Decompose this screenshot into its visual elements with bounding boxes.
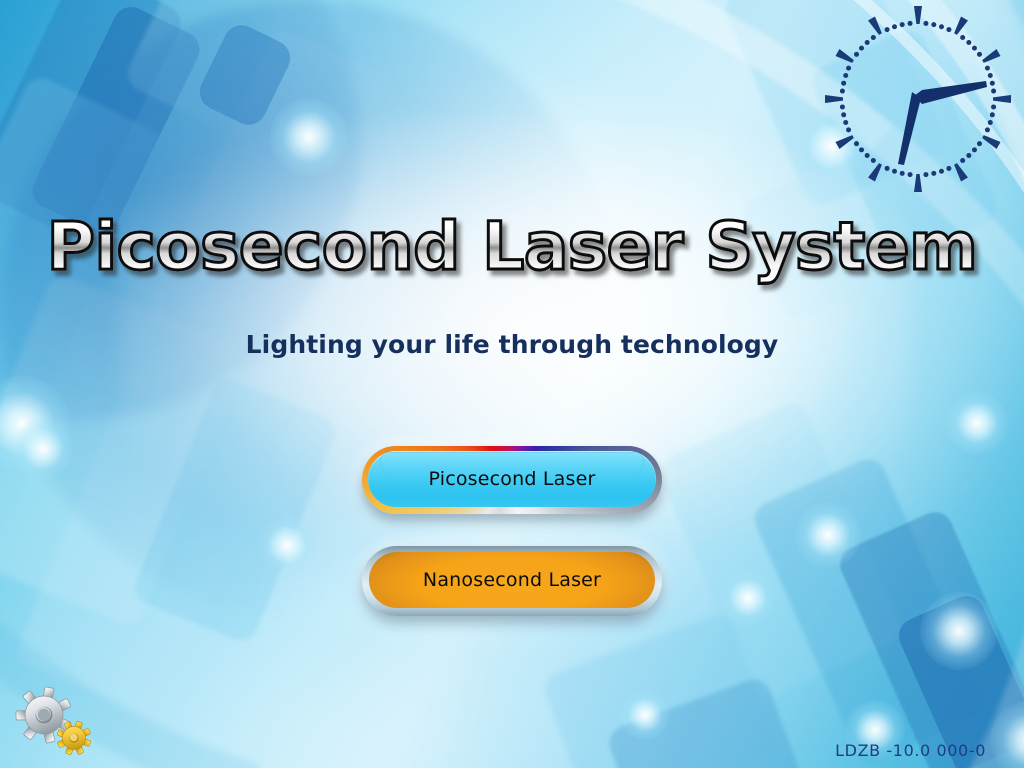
clock-hour-marker [981, 133, 1001, 149]
clock-minute-dot [885, 166, 890, 171]
clock-minute-dot [923, 172, 928, 177]
clock-hour-marker [825, 95, 843, 103]
page-subtitle: Lighting your life through technology [0, 330, 1024, 359]
clock-minute-dot [865, 40, 870, 45]
clock-minute-dot [885, 27, 890, 32]
title-block: Picosecond Laser System [0, 212, 1024, 281]
mode-button-group: Picosecond Laser Nanosecond Laser [362, 446, 668, 616]
clock-minute-dot [908, 21, 913, 26]
clock-minute-dot [972, 46, 977, 51]
clock-minute-dot [908, 172, 913, 177]
clock-minute-dot [900, 22, 905, 27]
clock-hour-marker [981, 49, 1001, 65]
clock-minute-dot [985, 66, 990, 71]
clock-minute-dot [840, 104, 845, 109]
picosecond-button-face: Picosecond Laser [368, 451, 656, 507]
splash-screen: Picosecond Laser System Lighting your li… [0, 0, 1024, 768]
clock-minute-dot [931, 171, 936, 176]
clock-minute-dot [841, 112, 846, 117]
page-title: Picosecond Laser System [47, 212, 978, 281]
clock-minute-dot [841, 81, 846, 86]
clock-minute-dot [960, 158, 965, 163]
clock-hour-marker [993, 95, 1011, 103]
nanosecond-laser-button[interactable]: Nanosecond Laser [362, 546, 662, 616]
clock-hour-marker [952, 16, 968, 36]
clock-minute-dot [988, 73, 993, 78]
clock-minute-dot [859, 147, 864, 152]
clock-hour-marker [952, 162, 968, 182]
clock-minute-dot [843, 120, 848, 125]
clock-minute-dot [972, 147, 977, 152]
clock-icon [818, 2, 1018, 200]
clock-minute-dot [946, 166, 951, 171]
clock-minute-dot [990, 112, 995, 117]
clock-minute-hand [914, 81, 987, 104]
clock-minute-dot [977, 52, 982, 57]
version-label: LDZB -10.0 000-0 [835, 741, 986, 760]
clock-minute-dot [892, 24, 897, 29]
clock-minute-dot [854, 52, 859, 57]
clock-minute-dot [846, 66, 851, 71]
clock-minute-dot [892, 169, 897, 174]
clock-minute-dot [960, 35, 965, 40]
clock-minute-dot [859, 46, 864, 51]
clock-minute-dot [846, 127, 851, 132]
nanosecond-button-face: Nanosecond Laser [369, 552, 655, 608]
gears-icon [14, 682, 96, 760]
clock-minute-dot [977, 141, 982, 146]
clock-minute-dot [871, 35, 876, 40]
clock-hour-marker [914, 6, 922, 24]
picosecond-laser-button[interactable]: Picosecond Laser [362, 446, 662, 514]
clock-minute-dot [991, 89, 996, 94]
clock-minute-dot [966, 40, 971, 45]
clock-minute-dot [865, 153, 870, 158]
clock-hour-hand [898, 92, 921, 165]
clock-minute-dot [946, 27, 951, 32]
clock-hour-marker [914, 174, 922, 192]
clock-minute-dot [985, 127, 990, 132]
clock-minute-dot [939, 24, 944, 29]
clock-minute-dot [990, 81, 995, 86]
clock-minute-dot [988, 120, 993, 125]
clock-minute-dot [939, 169, 944, 174]
clock-minute-dot [871, 158, 876, 163]
clock-minute-dot [966, 153, 971, 158]
clock-hour-marker [868, 162, 884, 182]
picosecond-button-label: Picosecond Laser [428, 468, 595, 490]
clock-minute-dot [840, 89, 845, 94]
clock-minute-dot [900, 171, 905, 176]
nanosecond-button-label: Nanosecond Laser [423, 569, 601, 591]
clock-minute-dot [931, 22, 936, 27]
clock-minute-dot [991, 104, 996, 109]
clock-minute-dot [843, 73, 848, 78]
clock-hour-marker [868, 16, 884, 36]
clock-minute-dot [923, 21, 928, 26]
clock-minute-dot [854, 141, 859, 146]
clock-hour-marker [835, 133, 855, 149]
clock-hour-marker [835, 49, 855, 65]
